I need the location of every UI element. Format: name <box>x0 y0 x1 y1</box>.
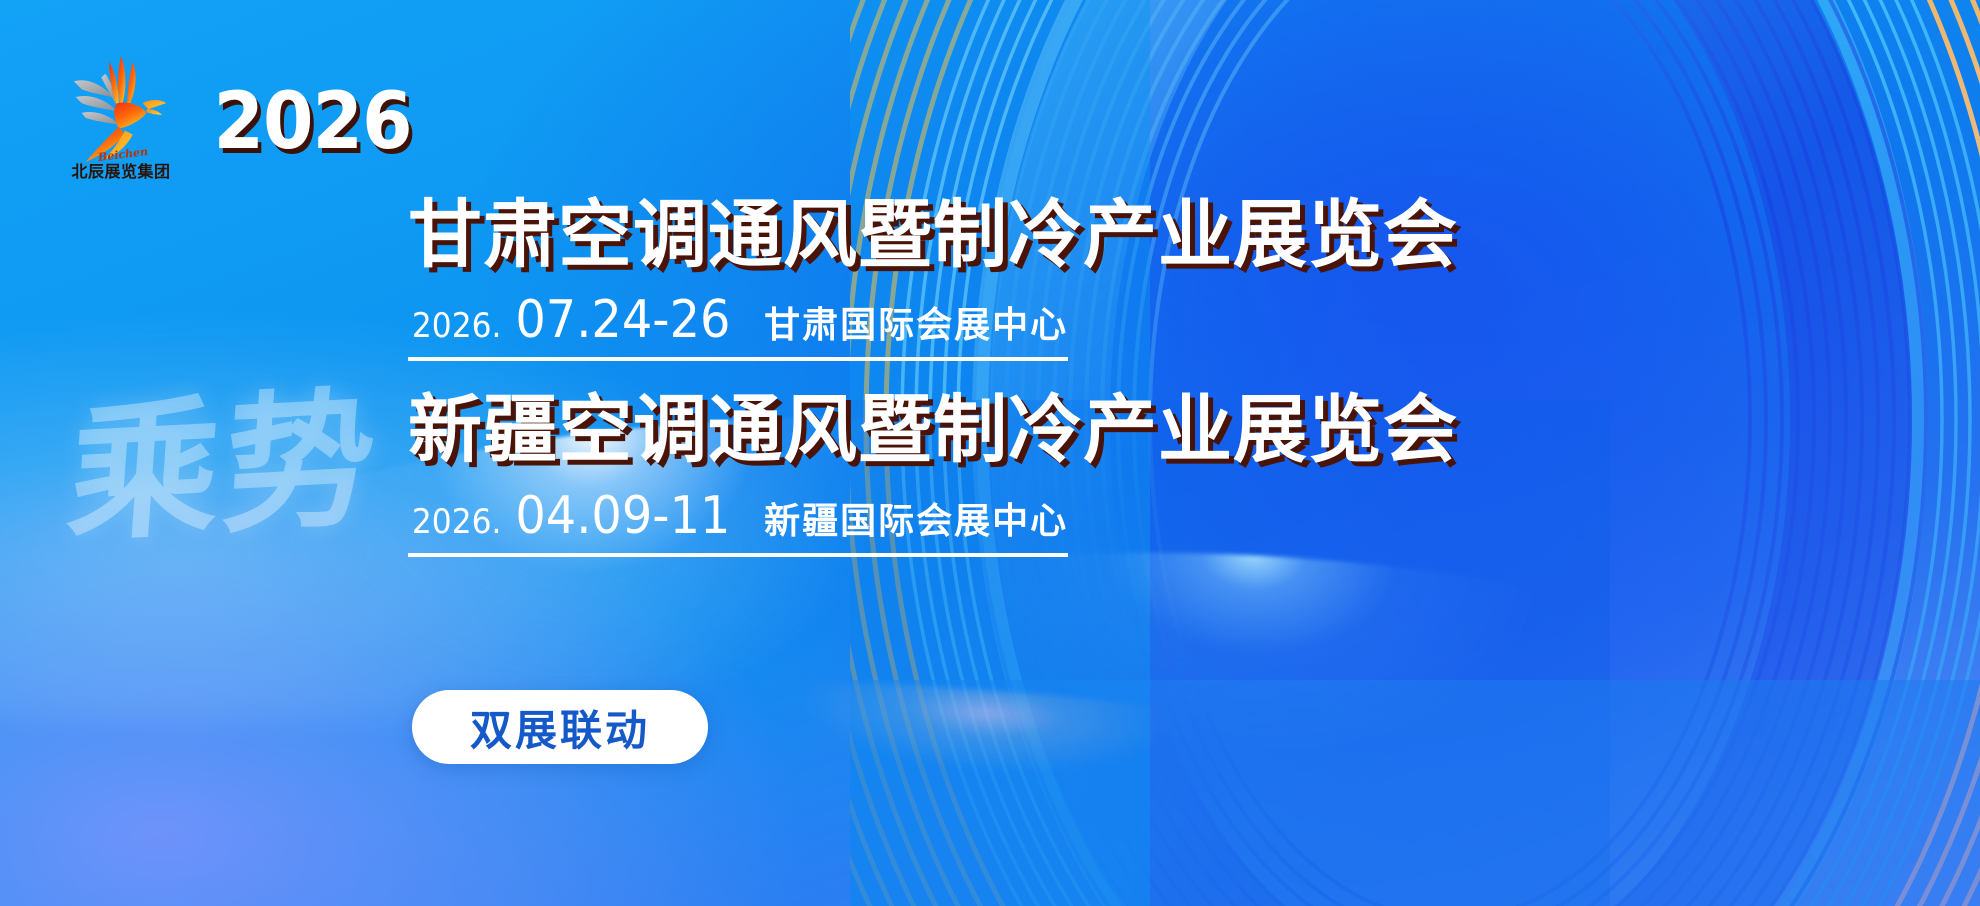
show-block-gansu: 甘肃空调通风暨制冷产业展览会 2026. 07.24-26 甘肃国际会展中心 <box>408 196 1648 361</box>
logo-company-name: 北辰展览集团 <box>69 158 173 182</box>
phoenix-bird-logo: Beichen 北辰展览集团 <box>60 48 178 178</box>
year-2026: 2026 <box>213 83 411 161</box>
show-meta: 2026. 07.24-26 甘肃国际会展中心 <box>408 286 1068 361</box>
logo-lockup: Beichen 北辰展览集团 2026 <box>60 48 419 178</box>
show-year: 2026. <box>412 306 502 346</box>
show-title: 新疆空调通风暨制冷产业展览会 <box>408 391 1648 469</box>
dual-show-badge[interactable]: 双展联动 <box>412 690 708 764</box>
show-venue: 新疆国际会展中心 <box>764 492 1068 544</box>
show-title: 甘肃空调通风暨制冷产业展览会 <box>408 196 1648 274</box>
dual-show-badge-label: 双展联动 <box>470 697 650 758</box>
light-sweep-pink <box>324 645 1637 906</box>
exhibition-banner: 乘势 <box>0 0 1980 906</box>
show-listing: 甘肃空调通风暨制冷产业展览会 2026. 07.24-26 甘肃国际会展中心 新… <box>408 196 1648 563</box>
show-year: 2026. <box>412 502 502 542</box>
show-dates: 07.24-26 <box>516 290 731 350</box>
calligraphy-watermark: 乘势 <box>64 384 384 550</box>
show-block-xinjiang: 新疆空调通风暨制冷产业展览会 2026. 04.09-11 新疆国际会展中心 <box>408 391 1648 556</box>
show-dates: 04.09-11 <box>516 486 731 546</box>
show-meta: 2026. 04.09-11 新疆国际会展中心 <box>408 482 1068 557</box>
show-venue: 甘肃国际会展中心 <box>764 296 1068 348</box>
